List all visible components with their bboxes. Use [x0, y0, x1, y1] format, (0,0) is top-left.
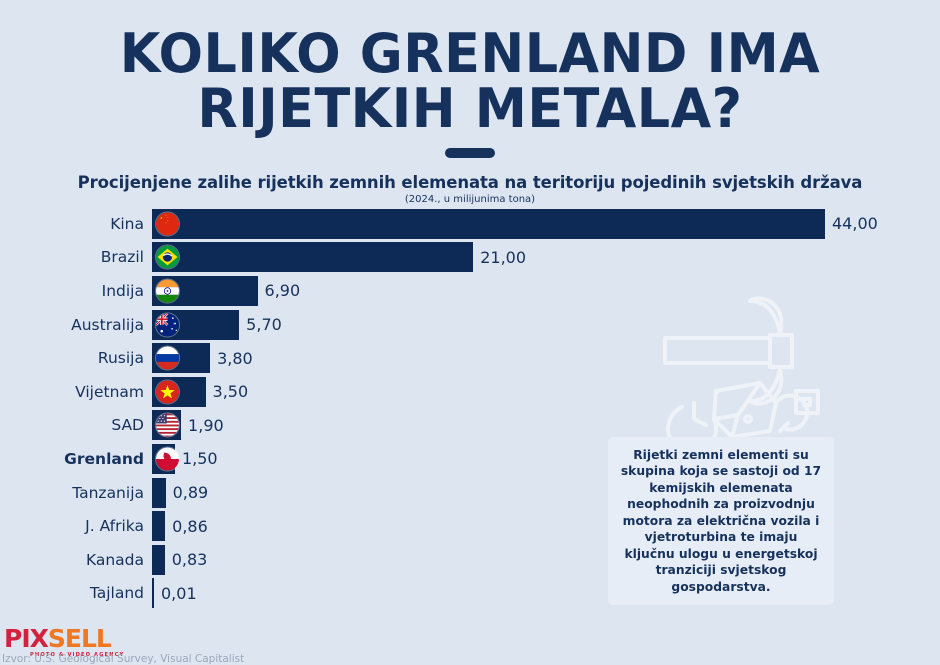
- country-label-kina: Kina: [0, 215, 152, 233]
- flag-australia-icon: [155, 312, 180, 337]
- chart-subtitle: Procijenjene zalihe rijetkih zemnih elem…: [0, 173, 940, 192]
- flag-russia-icon: [155, 346, 180, 371]
- logo-text-sell: SELL: [48, 624, 111, 653]
- bar-value-label: 0,01: [161, 584, 197, 603]
- bar-indija: 6,90: [152, 276, 258, 306]
- bar-grenland: 1,50: [152, 444, 175, 474]
- bar-value-label: 21,00: [480, 248, 526, 267]
- bar-value-label: 5,70: [246, 315, 282, 334]
- chart-row: Kina44,00: [0, 207, 940, 241]
- bar-track: 6,90: [152, 274, 940, 308]
- source-attribution: Izvor: U.S. Geological Survey, Visual Ca…: [2, 653, 244, 665]
- chart-row: Brazil21,00: [0, 241, 940, 275]
- bar-value-label: 0,83: [172, 550, 208, 569]
- flag-brazil-icon: [155, 245, 180, 270]
- flag-greenland-icon: [155, 446, 180, 471]
- flag-vietnam-icon: [155, 379, 180, 404]
- info-box: Rijetki zemni elementi su skupina koja s…: [608, 437, 834, 605]
- bar-vijetnam: 3,50: [152, 377, 206, 407]
- country-label-tajland: Tajland: [0, 584, 152, 602]
- title-divider-dash: [445, 148, 495, 158]
- bar-tanzanija: 0,89: [152, 478, 166, 508]
- bar-value-label: 3,50: [213, 382, 249, 401]
- country-label-indija: Indija: [0, 282, 152, 300]
- title-line-2: RIJETKIH METALA?: [14, 81, 926, 136]
- bar-value-label: 1,50: [182, 449, 218, 468]
- country-label-vijetnam: Vijetnam: [0, 383, 152, 401]
- country-label-j-afrika: J. Afrika: [0, 517, 152, 535]
- country-label-grenland: Grenland: [0, 450, 152, 468]
- bar-track: 3,50: [152, 375, 940, 409]
- flag-china-icon: [155, 211, 180, 236]
- bar-value-label: 0,86: [172, 517, 208, 536]
- bar-kina: 44,00: [152, 209, 825, 239]
- chart-row: Indija6,90: [0, 274, 940, 308]
- bar-kanada: 0,83: [152, 545, 165, 575]
- page-title: KOLIKO GRENLAND IMA RIJETKIH METALA?: [0, 26, 940, 158]
- country-label-australija: Australija: [0, 316, 152, 334]
- country-label-rusija: Rusija: [0, 349, 152, 367]
- bar-rusija: 3,80: [152, 343, 210, 373]
- bar-brazil: 21,00: [152, 242, 473, 272]
- bar-value-label: 3,80: [217, 349, 253, 368]
- flag-usa-icon: [155, 413, 180, 438]
- country-label-tanzanija: Tanzanija: [0, 484, 152, 502]
- country-label-brazil: Brazil: [0, 248, 152, 266]
- bar-track: 44,00: [152, 207, 940, 241]
- bar-tajland: 0,01: [152, 578, 154, 608]
- title-line-1: KOLIKO GRENLAND IMA: [14, 26, 926, 81]
- bar-australija: 5,70: [152, 310, 239, 340]
- chart-subtitle-note: (2024., u milijunima tona): [0, 194, 940, 205]
- chart-row: Australija5,70: [0, 308, 940, 342]
- bar-value-label: 44,00: [832, 214, 878, 233]
- flag-india-icon: [155, 278, 180, 303]
- bar-value-label: 6,90: [265, 281, 301, 300]
- country-label-sad: SAD: [0, 416, 152, 434]
- logo-text-pix: PIX: [4, 624, 48, 653]
- chart-row: Vijetnam3,50: [0, 375, 940, 409]
- bar-sad: 1,90: [152, 410, 181, 440]
- country-label-kanada: Kanada: [0, 551, 152, 569]
- bar-track: 21,00: [152, 241, 940, 275]
- bar-track: 5,70: [152, 308, 940, 342]
- infographic-page: KOLIKO GRENLAND IMA RIJETKIH METALA? Pro…: [0, 0, 940, 665]
- bar-value-label: 0,89: [173, 483, 209, 502]
- bar-track: 3,80: [152, 341, 940, 375]
- chart-row: Rusija3,80: [0, 341, 940, 375]
- bar-value-label: 1,90: [188, 416, 224, 435]
- info-box-text: Rijetki zemni elementi su skupina koja s…: [618, 447, 824, 596]
- bar-j-afrika: 0,86: [152, 511, 165, 541]
